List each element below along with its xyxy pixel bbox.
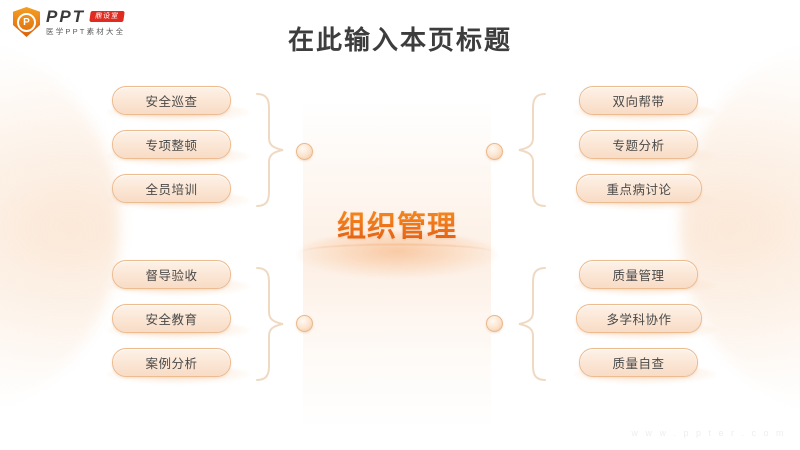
pill-button[interactable]: 专项整顿 (112, 130, 231, 159)
list-item[interactable]: 督导验收 (103, 260, 253, 298)
center-stage-ellipse (303, 244, 491, 259)
brace-left-bottom (253, 266, 295, 382)
pill-button[interactable]: 双向帮带 (579, 86, 698, 115)
pill-button[interactable]: 案例分析 (112, 348, 231, 377)
brace-left-top (253, 92, 295, 208)
brace-right-top (507, 92, 549, 208)
pill-button[interactable]: 质量管理 (579, 260, 698, 289)
pill-button[interactable]: 全员培训 (112, 174, 231, 203)
pill-button[interactable]: 重点病讨论 (576, 174, 702, 203)
connector-dot-bottom-left[interactable] (296, 315, 313, 332)
list-item[interactable]: 专题分析 (570, 130, 720, 168)
pill-button[interactable]: 安全巡查 (112, 86, 231, 115)
list-item[interactable]: 重点病讨论 (570, 174, 720, 212)
background-arc-left (0, 42, 120, 412)
list-item[interactable]: 双向帮带 (570, 86, 720, 124)
group-left-top: 安全巡查 专项整顿 全员培训 (103, 86, 253, 218)
pill-button[interactable]: 督导验收 (112, 260, 231, 289)
pill-button[interactable]: 多学科协作 (576, 304, 702, 333)
list-item[interactable]: 质量自查 (570, 348, 720, 386)
connector-dot-top-left[interactable] (296, 143, 313, 160)
list-item[interactable]: 案例分析 (103, 348, 253, 386)
list-item[interactable]: 质量管理 (570, 260, 720, 298)
list-item[interactable]: 安全巡查 (103, 86, 253, 124)
pill-button[interactable]: 安全教育 (112, 304, 231, 333)
page-title: 在此输入本页标题 (0, 20, 800, 57)
connector-dot-top-right[interactable] (486, 143, 503, 160)
group-right-top: 双向帮带 专题分析 重点病讨论 (570, 86, 720, 218)
list-item[interactable]: 安全教育 (103, 304, 253, 342)
list-item[interactable]: 全员培训 (103, 174, 253, 212)
connector-dot-bottom-right[interactable] (486, 315, 503, 332)
pill-button[interactable]: 专题分析 (579, 130, 698, 159)
brace-right-bottom (507, 266, 549, 382)
footer-watermark: w w w . p p t e r . c o m (631, 428, 786, 438)
group-right-bottom: 质量管理 多学科协作 质量自查 (570, 260, 720, 392)
group-left-bottom: 督导验收 安全教育 案例分析 (103, 260, 253, 392)
list-item[interactable]: 多学科协作 (570, 304, 720, 342)
pill-button[interactable]: 质量自查 (579, 348, 698, 377)
center-title: 组织管理 (303, 203, 491, 245)
list-item[interactable]: 专项整顿 (103, 130, 253, 168)
